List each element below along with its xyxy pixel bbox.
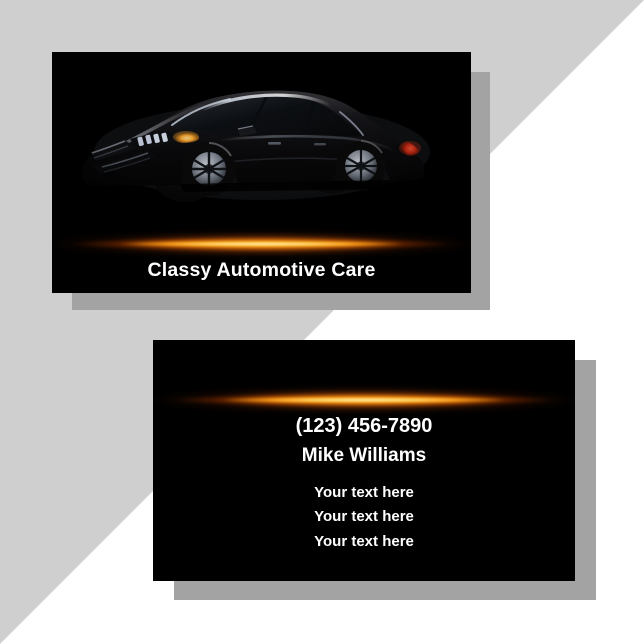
detail-line-3: Your text here <box>153 530 575 554</box>
business-card-mockup: Classy Automotive Care (123) 456-7890 Mi… <box>0 0 644 644</box>
streak-outer-glow <box>52 231 471 257</box>
sedan-car-illustration <box>52 56 471 206</box>
detail-line-1: Your text here <box>153 481 575 505</box>
streak-core <box>119 242 404 247</box>
company-name-heading: Classy Automotive Care <box>52 259 471 282</box>
back-card-light-streak <box>153 386 575 414</box>
streak-outer-glow <box>153 387 575 413</box>
front-card-light-streak <box>52 230 471 258</box>
business-card-front[interactable]: Classy Automotive Care <box>52 52 471 293</box>
car-photo <box>52 56 471 206</box>
streak-mid-glow <box>69 238 455 250</box>
contact-name: Mike Williams <box>153 446 575 465</box>
phone-number: (123) 456-7890 <box>153 416 575 436</box>
streak-mid-glow <box>170 394 558 406</box>
detail-line-2: Your text here <box>153 505 575 529</box>
contact-info-block: (123) 456-7890 Mike Williams Your text h… <box>153 416 575 554</box>
business-card-back[interactable]: (123) 456-7890 Mike Williams Your text h… <box>153 340 575 581</box>
streak-core <box>221 398 508 403</box>
